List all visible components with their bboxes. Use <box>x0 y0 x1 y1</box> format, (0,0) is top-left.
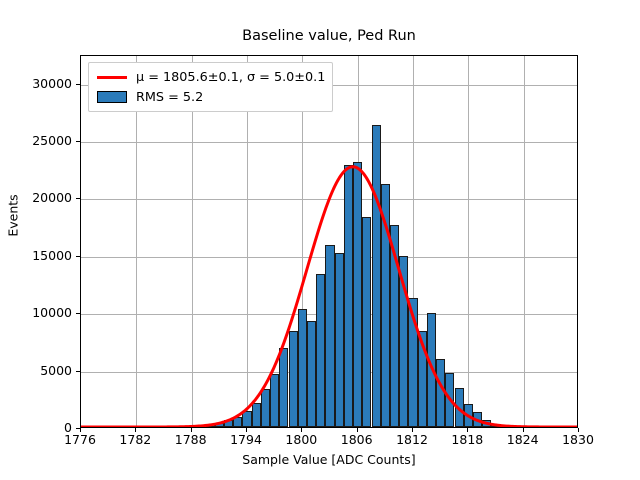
legend-item-rms: RMS = 5.2 <box>95 87 325 107</box>
legend-label-fit: μ = 1805.6±0.1, σ = 5.0±0.1 <box>136 70 325 85</box>
x-tick-mark <box>357 428 358 432</box>
y-tick-label: 5000 <box>16 364 72 377</box>
y-tick-label: 10000 <box>16 306 72 319</box>
x-tick-mark <box>467 428 468 432</box>
x-tick-label: 1806 <box>327 433 387 447</box>
x-tick-label: 1818 <box>437 433 497 447</box>
legend-patch-swatch-icon <box>97 91 127 103</box>
x-tick-label: 1800 <box>271 433 331 447</box>
legend-line-swatch-icon <box>97 76 127 79</box>
y-tick-label: 20000 <box>16 191 72 204</box>
y-tick-label: 25000 <box>16 134 72 147</box>
x-tick-label: 1830 <box>548 433 608 447</box>
legend: μ = 1805.6±0.1, σ = 5.0±0.1 RMS = 5.2 <box>88 62 333 112</box>
x-tick-mark <box>246 428 247 432</box>
y-tick-label: 30000 <box>16 77 72 90</box>
y-tick-mark <box>76 198 80 199</box>
x-tick-mark <box>301 428 302 432</box>
x-tick-label: 1812 <box>382 433 442 447</box>
x-tick-mark <box>191 428 192 432</box>
y-tick-label: 15000 <box>16 249 72 262</box>
y-tick-mark <box>76 313 80 314</box>
x-tick-label: 1794 <box>216 433 276 447</box>
x-tick-mark <box>578 428 579 432</box>
legend-item-fit: μ = 1805.6±0.1, σ = 5.0±0.1 <box>95 67 325 87</box>
legend-label-rms: RMS = 5.2 <box>136 90 203 105</box>
y-tick-mark <box>76 256 80 257</box>
y-tick-mark <box>76 141 80 142</box>
page-title: Baseline value, Ped Run <box>80 27 578 45</box>
x-tick-label: 1824 <box>493 433 553 447</box>
x-tick-label: 1788 <box>161 433 221 447</box>
y-axis-label: Events <box>6 166 21 266</box>
matplotlib-figure: Baseline value, Ped Run 0500010000150002… <box>0 0 640 480</box>
y-tick-mark <box>76 371 80 372</box>
x-tick-mark <box>412 428 413 432</box>
x-tick-label: 1782 <box>105 433 165 447</box>
x-tick-mark <box>135 428 136 432</box>
x-axis-label: Sample Value [ADC Counts] <box>80 452 578 468</box>
x-tick-mark <box>523 428 524 432</box>
x-tick-mark <box>80 428 81 432</box>
y-tick-mark <box>76 84 80 85</box>
x-tick-label: 1776 <box>50 433 110 447</box>
